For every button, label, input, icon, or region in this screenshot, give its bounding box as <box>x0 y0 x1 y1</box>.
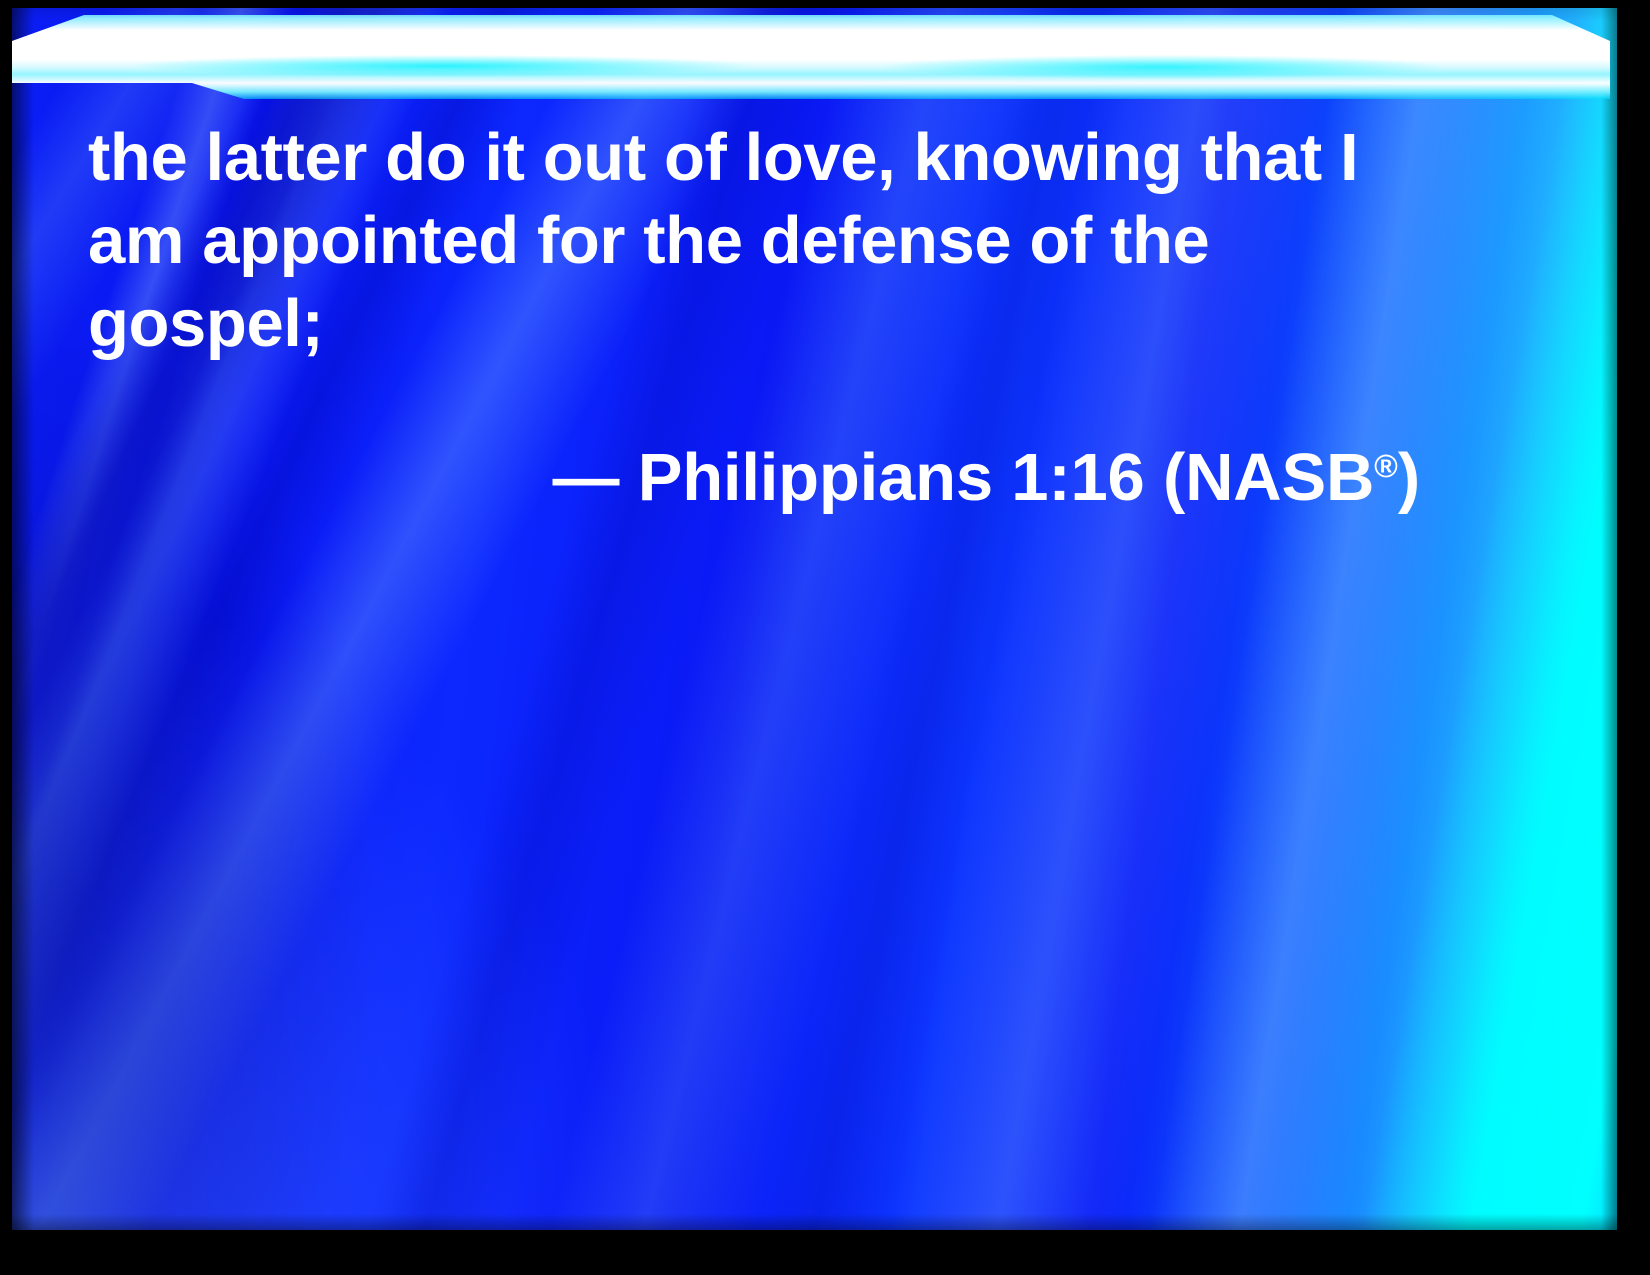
edge-vignette <box>12 8 1617 1230</box>
scripture-slide: the latter do it out of love, knowing th… <box>0 0 1650 1275</box>
banner-core <box>12 11 1617 99</box>
verse-text-block: the latter do it out of love, knowing th… <box>88 116 1528 519</box>
attribution-closing-paren: ) <box>1398 440 1420 515</box>
attribution-reference: Philippians 1:16 (NASB <box>638 440 1374 515</box>
banner-cyan-glow-left <box>132 55 752 77</box>
cyan-light-band <box>12 8 1617 1230</box>
dark-blue-diagonal-wedge <box>12 8 1617 1230</box>
slide-background-canvas: the latter do it out of love, knowing th… <box>12 8 1617 1230</box>
verse-line-2: am appointed for the defense of the <box>88 199 1528 282</box>
verse-attribution: — Philippians 1:16 (NASB®) <box>88 365 1528 519</box>
diagonal-light-streaks-primary <box>12 8 1617 1230</box>
verse-line-3: gospel; <box>88 282 1528 365</box>
attribution-em-dash: — <box>552 440 619 515</box>
diagonal-light-streaks-secondary <box>12 8 1617 1230</box>
verse-line-1: the latter do it out of love, knowing th… <box>88 116 1528 199</box>
registered-trademark-icon: ® <box>1374 448 1398 484</box>
background-base-gradient <box>12 8 1617 1230</box>
attribution-spacer <box>619 440 637 515</box>
top-white-banner <box>12 11 1617 99</box>
banner-cyan-glow-right <box>882 55 1442 79</box>
